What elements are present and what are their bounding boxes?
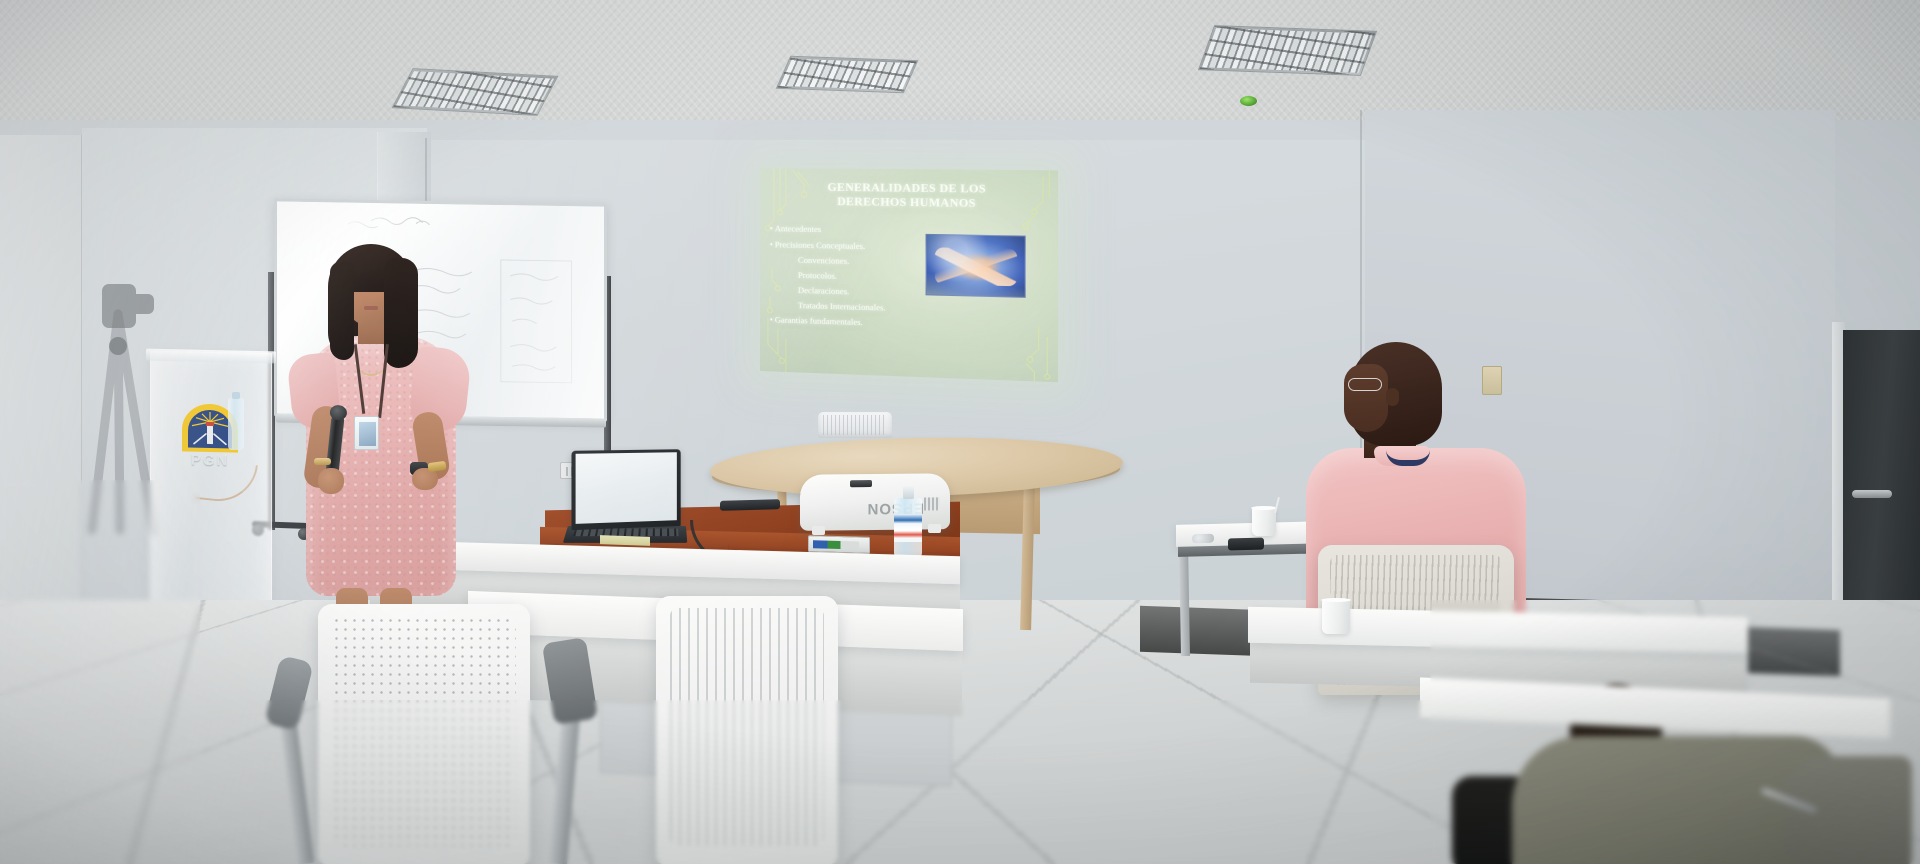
eyeglasses-icon [1348,378,1382,391]
chair-backrest [318,604,530,864]
chair-backrest [656,596,838,864]
sticky-note [600,535,650,546]
chair-perforation [332,616,516,846]
smartphone[interactable] [1228,538,1264,551]
laptop-display [576,452,677,524]
attendee-face [1344,364,1388,432]
projected-slide: GENERALIDADES DE LOS DERECHOS HUMANOS An… [760,168,1058,382]
projector-lens-icon [850,480,872,487]
bottle-label [894,514,922,542]
projector-foot [928,524,941,533]
projector-foot [812,526,825,535]
chair-behind-table[interactable] [818,412,892,438]
bottle-cap [903,486,914,499]
presenter-hair-side [330,262,354,360]
attendee-ear [1386,388,1399,406]
device-box[interactable] [808,535,870,554]
laptop-screen [571,449,680,530]
necklace [356,342,386,376]
water-bottle [228,398,244,450]
ceiling-light-fixture [391,68,558,116]
smoke-detector-icon [1240,96,1257,106]
projection-light-wash [760,168,1058,382]
laptop[interactable] [568,450,686,550]
laptop-keys [573,528,678,536]
chair-slots [670,608,824,846]
presenter [284,236,480,632]
ceiling-light-fixture [776,56,919,94]
bracelet [314,458,331,465]
door-handle-icon[interactable] [1852,490,1892,498]
keys[interactable] [1192,534,1214,544]
coffee-cup[interactable] [1252,508,1276,536]
presenter-hair-side [384,258,418,368]
presenter-mouth [364,306,378,310]
ceiling-light-fixture [1198,25,1377,76]
alcohol-gel-bottle[interactable] [894,486,922,558]
coffee-cup[interactable] [1322,600,1350,634]
attendee-arm [1782,756,1912,864]
projector: EPSON [800,473,950,531]
id-badge [354,416,379,450]
remote-control[interactable] [720,499,780,511]
projector-vent [924,497,940,510]
presenter-hand [318,468,344,494]
conference-room-scene: GENERALIDADES DE LOS DERECHOS HUMANOS An… [0,0,1920,864]
